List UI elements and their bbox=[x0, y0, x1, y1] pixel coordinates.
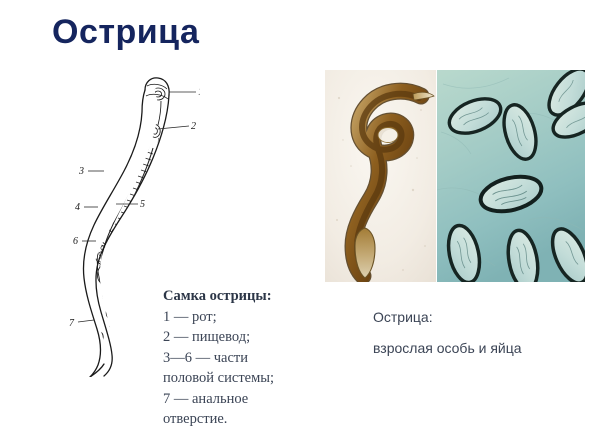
internal-organs bbox=[91, 88, 165, 350]
diagram-label-4: 4 bbox=[75, 202, 80, 213]
female-pinworm-caption: Самка острицы: 1 — рот; 2 — пищевод; 3—6… bbox=[163, 286, 313, 430]
adult-pinworm-illustration bbox=[325, 70, 436, 282]
photo-strip bbox=[325, 70, 585, 282]
caption-line-1: 1 — рот; bbox=[163, 307, 313, 328]
diagram-label-1: 1 bbox=[198, 87, 200, 98]
eggs-illustration bbox=[437, 70, 585, 282]
photo-caption-line-1: Острица: bbox=[373, 310, 522, 324]
caption-line-4: половой системы; bbox=[163, 368, 313, 389]
diagram-label-7: 7 bbox=[69, 318, 75, 329]
photo-caption: Острица: взрослая особь и яйца bbox=[373, 310, 522, 355]
worm-body-outline bbox=[83, 78, 169, 377]
adult-pinworm-photo bbox=[325, 70, 436, 282]
caption-line-5: 7 — анальное bbox=[163, 389, 313, 410]
diagram-label-2: 2 bbox=[191, 121, 196, 132]
pinworm-eggs-micrograph bbox=[437, 70, 585, 282]
diagram-label-3: 3 bbox=[78, 166, 84, 177]
diagram-label-5: 5 bbox=[140, 199, 145, 210]
caption-line-2: 2 — пищевод; bbox=[163, 327, 313, 348]
caption-line-3: 3—6 — части bbox=[163, 348, 313, 369]
diagram-label-6: 6 bbox=[73, 236, 78, 247]
coil-center bbox=[378, 128, 398, 143]
caption-heading: Самка острицы: bbox=[163, 286, 313, 307]
photo-caption-line-2: взрослая особь и яйца bbox=[373, 341, 522, 355]
page-title: Острица bbox=[52, 14, 199, 51]
